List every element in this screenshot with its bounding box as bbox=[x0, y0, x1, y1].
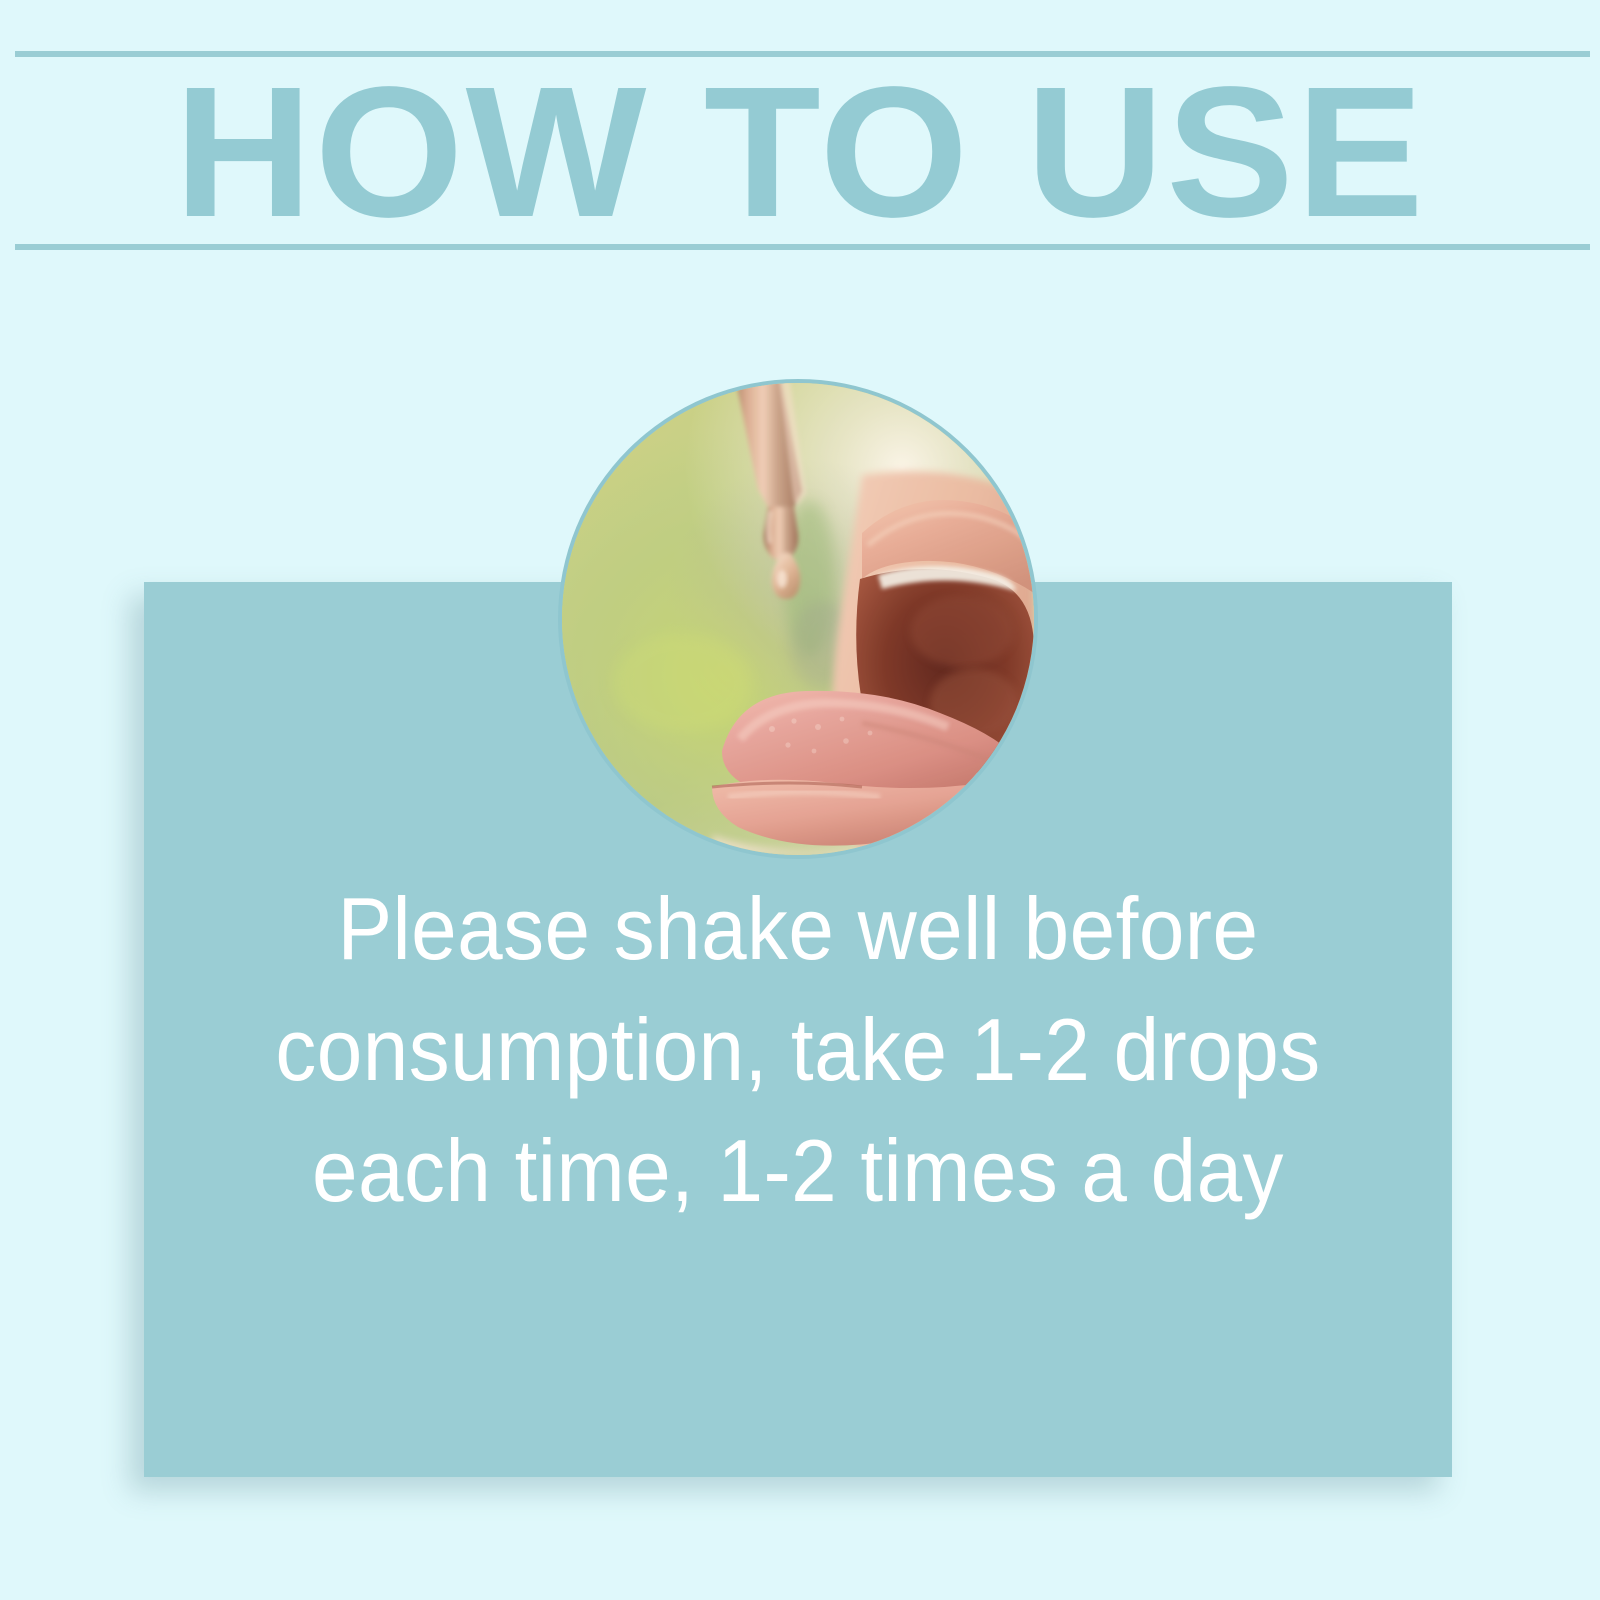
bottom-divider-rule bbox=[15, 244, 1590, 250]
instruction-line-3: each time, 1-2 times a day bbox=[190, 1110, 1406, 1231]
instruction-line-2: consumption, take 1-2 drops bbox=[190, 989, 1406, 1110]
how-to-use-poster: HOW TO USE Please shake well before cons… bbox=[0, 0, 1600, 1600]
instruction-text-block: Please shake well before consumption, ta… bbox=[190, 868, 1406, 1231]
poster-header: HOW TO USE bbox=[0, 0, 1600, 270]
page-title: HOW TO USE bbox=[0, 60, 1600, 246]
dropper-mouth-photo bbox=[562, 383, 1034, 855]
instruction-line-1: Please shake well before bbox=[190, 868, 1406, 989]
